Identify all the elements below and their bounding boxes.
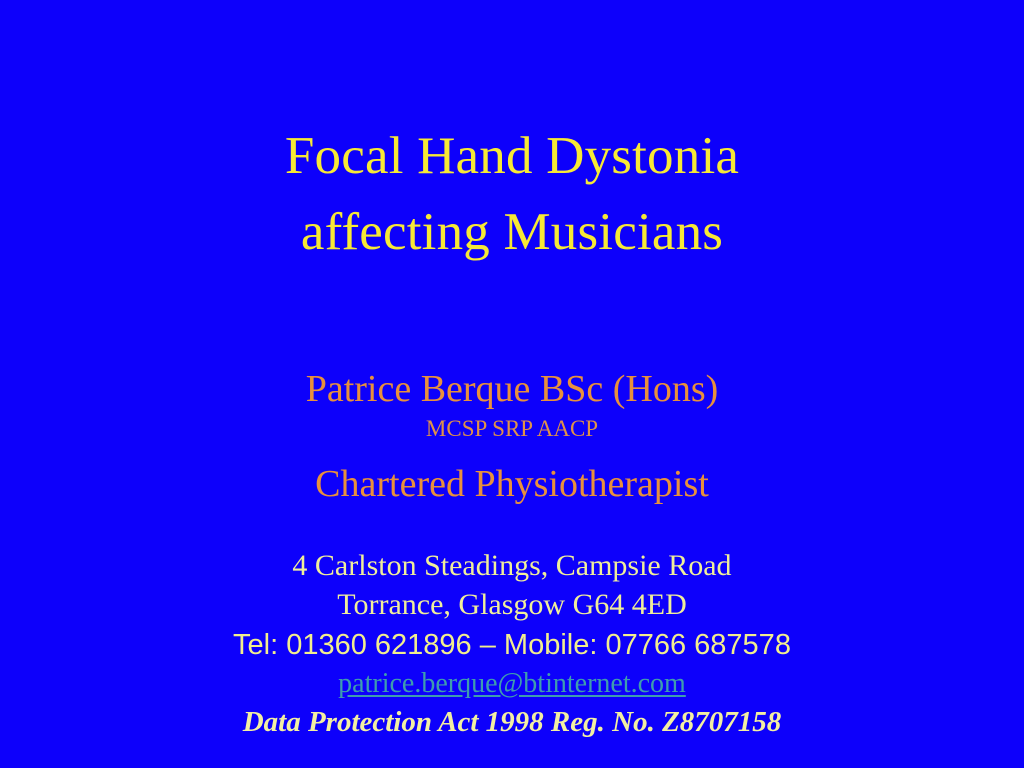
- author-role: Chartered Physiotherapist: [0, 461, 1024, 507]
- slide-title-line-2: affecting Musicians: [0, 194, 1024, 270]
- phone-line: Tel: 01360 621896 – Mobile: 07766 687578: [0, 624, 1024, 666]
- author-qualifications: MCSP SRP AACP: [0, 412, 1024, 445]
- email-link[interactable]: patrice.berque@btinternet.com: [338, 668, 686, 699]
- slide-title-line-1: Focal Hand Dystonia: [0, 118, 1024, 194]
- address-line-2: Torrance, Glasgow G64 4ED: [0, 585, 1024, 624]
- author-block: Patrice Berque BSc (Hons) MCSP SRP AACP …: [0, 366, 1024, 507]
- slide-title-block: Focal Hand Dystonia affecting Musicians: [0, 118, 1024, 270]
- email-line: patrice.berque@btinternet.com: [0, 666, 1024, 702]
- data-protection-notice: Data Protection Act 1998 Reg. No. Z87071…: [0, 702, 1024, 742]
- address-line-1: 4 Carlston Steadings, Campsie Road: [0, 546, 1024, 585]
- presentation-slide: Focal Hand Dystonia affecting Musicians …: [0, 0, 1024, 768]
- contact-block: 4 Carlston Steadings, Campsie Road Torra…: [0, 546, 1024, 742]
- author-name: Patrice Berque BSc (Hons): [0, 366, 1024, 412]
